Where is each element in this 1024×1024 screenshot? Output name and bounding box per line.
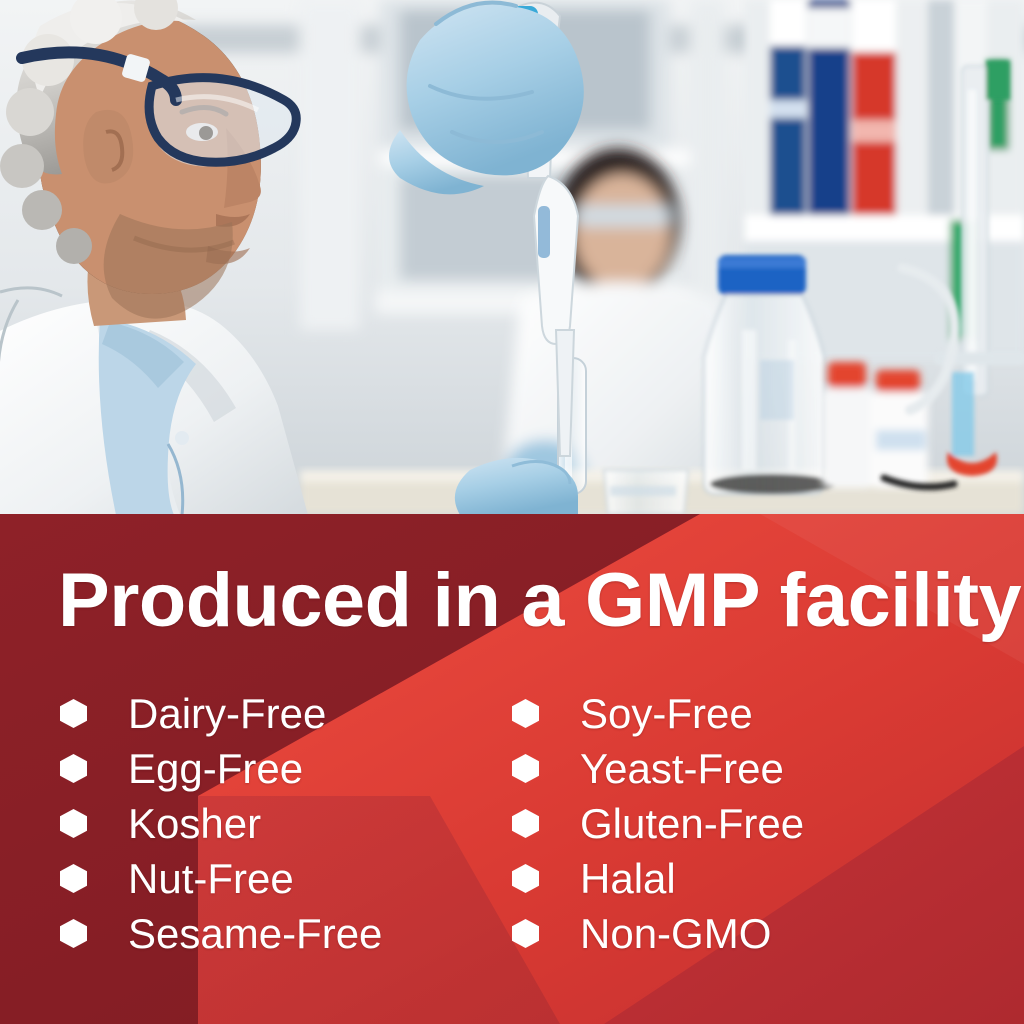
list-item-label: Nut-Free: [128, 857, 294, 901]
list-item: Gluten-Free: [512, 796, 804, 851]
promo-graphic: Produced in a GMP facility Dairy-Free Eg…: [0, 0, 1024, 1024]
list-item: Halal: [512, 851, 804, 906]
list-item: Dairy-Free: [60, 686, 382, 741]
list-item-label: Kosher: [128, 802, 261, 846]
certification-column-left: Dairy-Free Egg-Free Kosher Nut-Free: [60, 686, 382, 961]
hexagon-bullet-icon: [60, 864, 87, 893]
hexagon-bullet-icon: [60, 809, 87, 838]
list-item: Yeast-Free: [512, 741, 804, 796]
list-item-label: Sesame-Free: [128, 912, 382, 956]
list-item: Sesame-Free: [60, 906, 382, 961]
list-item: Non-GMO: [512, 906, 804, 961]
hexagon-bullet-icon: [512, 754, 539, 783]
list-item: Nut-Free: [60, 851, 382, 906]
lab-scene-illustration: [0, 0, 1024, 515]
hexagon-bullet-icon: [512, 864, 539, 893]
list-item-label: Egg-Free: [128, 747, 303, 791]
list-item-label: Non-GMO: [580, 912, 771, 956]
list-item-label: Halal: [580, 857, 676, 901]
certification-column-right: Soy-Free Yeast-Free Gluten-Free Halal: [512, 686, 804, 961]
page-title: Produced in a GMP facility: [58, 565, 1007, 637]
list-item-label: Yeast-Free: [580, 747, 784, 791]
list-item: Soy-Free: [512, 686, 804, 741]
list-item-label: Dairy-Free: [128, 692, 326, 736]
hexagon-bullet-icon: [60, 919, 87, 948]
hexagon-bullet-icon: [512, 809, 539, 838]
hexagon-bullet-icon: [60, 699, 87, 728]
hexagon-bullet-icon: [512, 699, 539, 728]
hexagon-bullet-icon: [60, 754, 87, 783]
list-item-label: Gluten-Free: [580, 802, 804, 846]
hero-photo: [0, 0, 1024, 515]
hexagon-bullet-icon: [512, 919, 539, 948]
red-feature-panel: Produced in a GMP facility Dairy-Free Eg…: [0, 514, 1024, 1024]
list-item: Egg-Free: [60, 741, 382, 796]
list-item-label: Soy-Free: [580, 692, 753, 736]
list-item: Kosher: [60, 796, 382, 851]
